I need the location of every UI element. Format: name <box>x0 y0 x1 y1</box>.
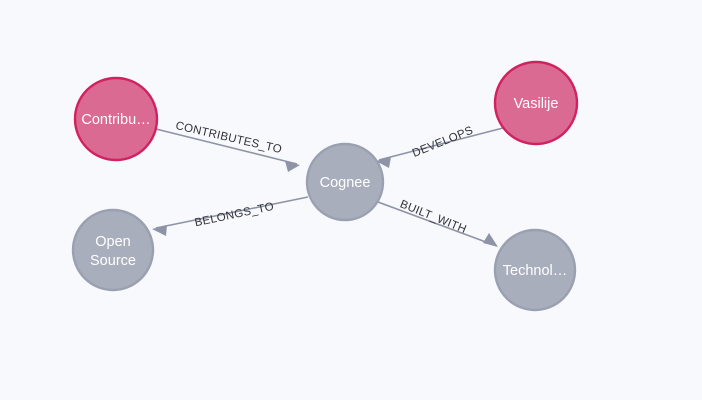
edge-built-with-arrowhead <box>483 233 498 247</box>
graph-visualization[interactable]: CONTRIBUTES_TO DEVELOPS BELONGS_TO BUILT… <box>0 0 702 400</box>
edge-built-with[interactable]: BUILT_WITH <box>378 198 498 247</box>
vasilije-node-label: Vasilije <box>514 96 559 112</box>
graph-node-open-source[interactable]: Open Source <box>73 210 153 290</box>
nodes-layer: Contribu… Vasilije Cognee Open Source <box>73 62 577 310</box>
graph-node-technology[interactable]: Technol… <box>495 230 575 310</box>
cognee-node-label: Cognee <box>320 175 371 191</box>
open-source-node-label-line1: Open <box>95 234 130 250</box>
edge-belongs-to[interactable]: BELONGS_TO <box>152 197 308 236</box>
graph-node-vasilije[interactable]: Vasilije <box>495 62 577 144</box>
edge-develops[interactable]: DEVELOPS <box>376 125 503 168</box>
open-source-node-circle[interactable] <box>73 210 153 290</box>
graph-node-cognee[interactable]: Cognee <box>307 144 383 220</box>
edge-contributes-to[interactable]: CONTRIBUTES_TO <box>156 120 300 172</box>
open-source-node-label-line2: Source <box>90 253 136 269</box>
edge-built-with-label: BUILT_WITH <box>398 198 468 236</box>
graph-node-contributor[interactable]: Contribu… <box>75 78 157 160</box>
graph-canvas[interactable]: CONTRIBUTES_TO DEVELOPS BELONGS_TO BUILT… <box>0 0 702 400</box>
edge-develops-label: DEVELOPS <box>411 125 475 160</box>
technology-node-label: Technol… <box>503 263 567 279</box>
edge-belongs-to-label: BELONGS_TO <box>194 201 275 230</box>
contributor-node-label: Contribu… <box>81 112 150 128</box>
